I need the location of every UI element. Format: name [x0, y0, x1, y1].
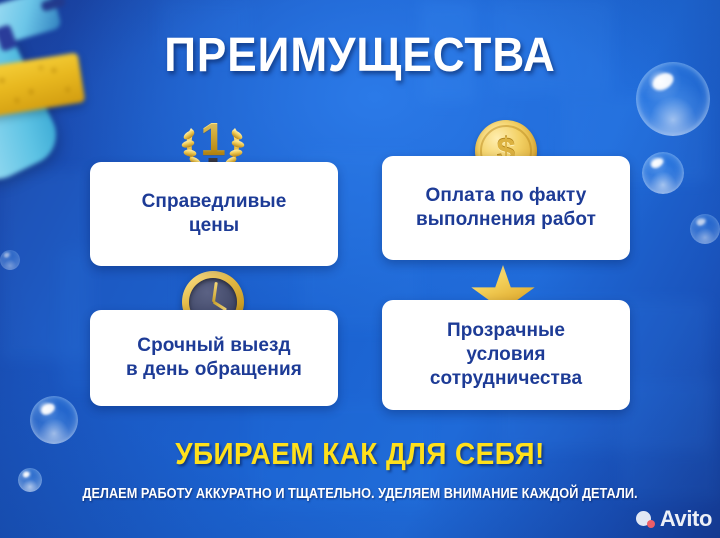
- avito-watermark: Avito: [636, 506, 712, 532]
- advantage-card-text: Справедливые цены: [142, 190, 287, 239]
- advantage-card-pay-on-completion[interactable]: Оплата по факту выполнения работ: [382, 156, 630, 260]
- soap-bubble-icon: [0, 250, 20, 270]
- advantage-card-transparent-terms[interactable]: Прозрачные условия сотрудничества: [382, 300, 630, 410]
- advantages-poster: ПРЕИМУЩЕСТВА: [0, 0, 720, 538]
- soap-bubble-icon: [642, 152, 684, 194]
- avito-logo-icon: [636, 509, 657, 530]
- advantage-card-text: Прозрачные условия сотрудничества: [430, 319, 582, 392]
- soap-bubble-icon: [690, 214, 720, 244]
- page-title: ПРЕИМУЩЕСТВА: [29, 28, 691, 83]
- advantage-card-same-day-visit[interactable]: Срочный выезд в день обращения: [90, 310, 338, 406]
- avito-brand-text: Avito: [660, 506, 712, 532]
- advantage-card-text: Оплата по факту выполнения работ: [416, 184, 596, 233]
- headline-slogan: УБИРАЕМ КАК ДЛЯ СЕБЯ!: [36, 436, 684, 472]
- number-one-glyph: 1: [200, 116, 226, 162]
- advantage-card-text: Срочный выезд в день обращения: [126, 334, 302, 383]
- subheadline-text: ДЕЛАЕМ РАБОТУ АККУРАТНО И ТЩАТЕЛЬНО. УДЕ…: [43, 486, 677, 502]
- advantage-card-fair-prices[interactable]: Справедливые цены: [90, 162, 338, 266]
